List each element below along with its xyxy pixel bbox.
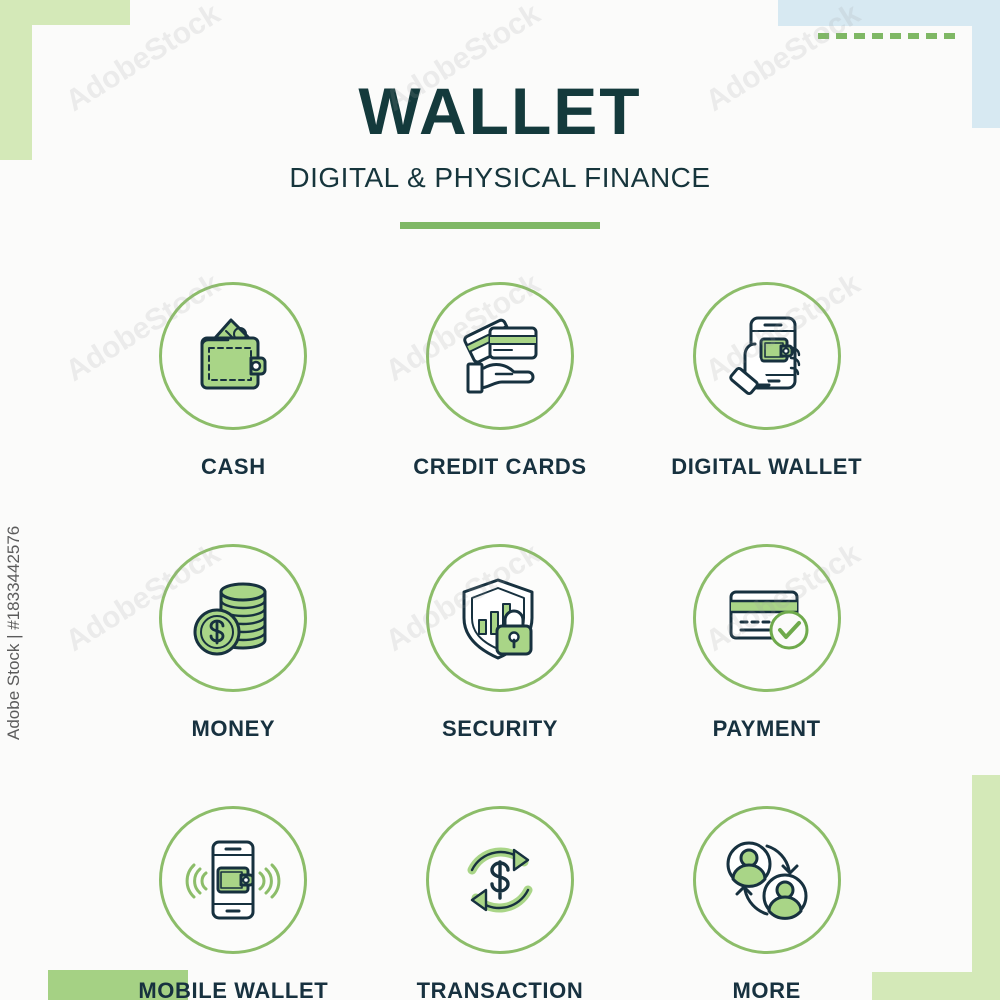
decor-bottom-right-vertical [972,775,1000,1000]
grid-item-label: DIGITAL WALLET [671,454,862,480]
grid-item-cash[interactable]: CASH [100,282,367,480]
grid-item-label: MORE [732,978,800,1000]
two-people-exchange-icon [719,832,815,928]
icon-circle [426,544,574,692]
header: WALLET DIGITAL & PHYSICAL FINANCE [0,0,1000,192]
icon-circle [693,544,841,692]
icon-circle [159,806,307,954]
grid-item-label: TRANSACTION [417,978,584,1000]
icon-circle [693,282,841,430]
watermark-id: Adobe Stock | #1833442576 [4,526,24,740]
grid-item-payment[interactable]: PAYMENT [633,544,900,742]
hand-phone-wallet-icon [719,308,815,404]
coin-stack-dollar-icon [185,570,281,666]
grid-item-mobile-wallet[interactable]: MOBILE WALLET [100,806,367,1000]
shield-lock-chart-icon [452,570,548,666]
circular-arrows-dollar-icon [452,832,548,928]
credit-card-check-icon [719,570,815,666]
grid-item-label: CREDIT CARDS [413,454,586,480]
phone-wallet-signal-icon [185,832,281,928]
icon-circle [426,282,574,430]
page-title: WALLET [0,0,1000,144]
grid-item-money[interactable]: MONEY [100,544,367,742]
icon-circle [426,806,574,954]
icon-circle [693,806,841,954]
grid-item-transaction[interactable]: TRANSACTION [367,806,634,1000]
grid-item-label: CASH [201,454,266,480]
wallet-cash-icon [185,308,281,404]
grid-item-label: PAYMENT [713,716,821,742]
title-underline-rule [400,222,600,229]
grid-item-digital-wallet[interactable]: DIGITAL WALLET [633,282,900,480]
grid-item-label: MONEY [191,716,275,742]
poster-canvas: WALLET DIGITAL & PHYSICAL FINANCE [0,0,1000,1000]
page-subtitle: DIGITAL & PHYSICAL FINANCE [0,144,1000,192]
grid-item-more[interactable]: MORE [633,806,900,1000]
grid-item-label: MOBILE WALLET [138,978,328,1000]
grid-item-credit-cards[interactable]: CREDIT CARDS [367,282,634,480]
icon-grid: CASH [100,282,900,1000]
grid-item-label: SECURITY [442,716,558,742]
hand-credit-cards-icon [452,308,548,404]
icon-circle [159,544,307,692]
icon-circle [159,282,307,430]
grid-item-security[interactable]: SECURITY [367,544,634,742]
